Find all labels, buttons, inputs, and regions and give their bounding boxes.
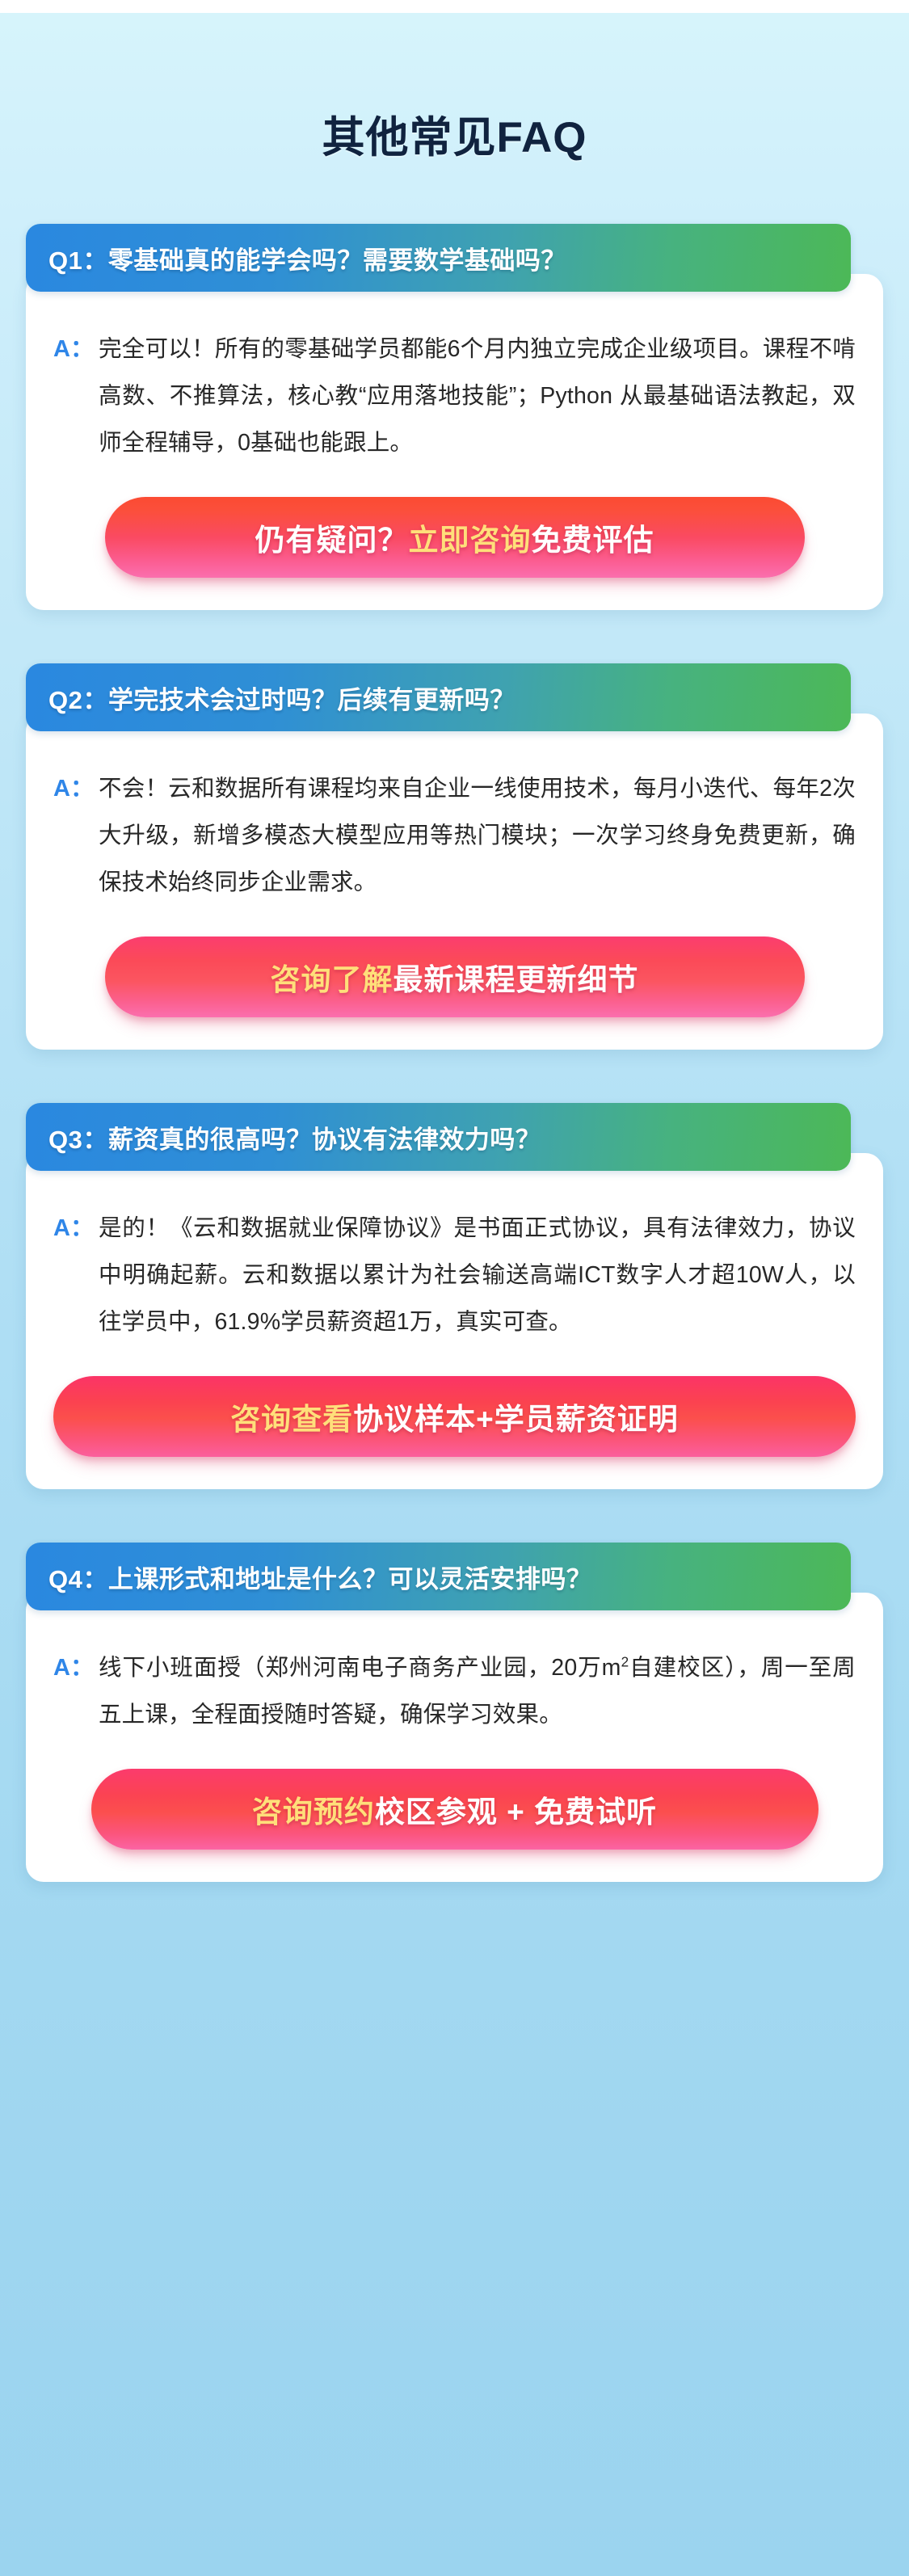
- cta-highlight-q4: 咨询预约: [252, 1787, 375, 1831]
- cta-button-q2[interactable]: 咨询了解最新课程更新细节: [105, 937, 805, 1017]
- cta-wrap-q1: 仍有疑问？立即咨询免费评估: [53, 497, 856, 578]
- answer-text-q4: 线下小班面授（郑州河南电子商务产业园，20万m2自建校区），周一至周五上课，全程…: [99, 1644, 856, 1738]
- cta-trail-q2: 最新课程更新细节: [393, 955, 639, 999]
- answer-label-q1: A：: [53, 326, 99, 373]
- question-header-q1[interactable]: Q1：零基础真的能学会吗？需要数学基础吗？: [26, 224, 851, 292]
- answer-text-q2: 不会！云和数据所有课程均来自企业一线使用技术，每月小迭代、每年2次大升级，新增多…: [99, 765, 856, 906]
- answer-card-q1: A： 完全可以！所有的零基础学员都能6个月内独立完成企业级项目。课程不啃高数、不…: [26, 274, 883, 610]
- answer-row-q1: A： 完全可以！所有的零基础学员都能6个月内独立完成企业级项目。课程不啃高数、不…: [53, 326, 856, 466]
- cta-wrap-q2: 咨询了解最新课程更新细节: [53, 937, 856, 1017]
- question-header-q4[interactable]: Q4：上课形式和地址是什么？可以灵活安排吗？: [26, 1543, 851, 1610]
- cta-trail-q4: 校区参观 + 免费试听: [375, 1787, 657, 1831]
- answer-row-q3: A： 是的！《云和数据就业保障协议》是书面正式协议，具有法律效力，协议中明确起薪…: [53, 1205, 856, 1345]
- faq-block-q4: Q4：上课形式和地址是什么？可以灵活安排吗？ A： 线下小班面授（郑州河南电子商…: [26, 1543, 883, 1882]
- faq-block-q2: Q2：学完技术会过时吗？后续有更新吗？ A： 不会！云和数据所有课程均来自企业一…: [26, 663, 883, 1050]
- faq-page: 其他常见FAQ Q1：零基础真的能学会吗？需要数学基础吗？ A： 完全可以！所有…: [0, 0, 909, 2576]
- cta-highlight-q1: 立即咨询: [409, 516, 532, 559]
- question-text-q4: Q4：上课形式和地址是什么？可以灵活安排吗？: [48, 1559, 591, 1595]
- faq-block-q1: Q1：零基础真的能学会吗？需要数学基础吗？ A： 完全可以！所有的零基础学员都能…: [26, 224, 883, 610]
- question-header-q3[interactable]: Q3：薪资真的很高吗？协议有法律效力吗？: [26, 1103, 851, 1171]
- faq-block-q3: Q3：薪资真的很高吗？协议有法律效力吗？ A： 是的！《云和数据就业保障协议》是…: [26, 1103, 883, 1489]
- answer-text-q3: 是的！《云和数据就业保障协议》是书面正式协议，具有法律效力，协议中明确起薪。云和…: [99, 1205, 856, 1345]
- answer-row-q2: A： 不会！云和数据所有课程均来自企业一线使用技术，每月小迭代、每年2次大升级，…: [53, 765, 856, 906]
- question-text-q1: Q1：零基础真的能学会吗？需要数学基础吗？: [48, 240, 566, 276]
- answer-text-q1: 完全可以！所有的零基础学员都能6个月内独立完成企业级项目。课程不啃高数、不推算法…: [99, 326, 856, 466]
- question-header-q2[interactable]: Q2：学完技术会过时吗？后续有更新吗？: [26, 663, 851, 731]
- cta-highlight-q2: 咨询了解: [271, 955, 393, 999]
- cta-wrap-q4: 咨询预约校区参观 + 免费试听: [53, 1769, 856, 1850]
- answer-card-q3: A： 是的！《云和数据就业保障协议》是书面正式协议，具有法律效力，协议中明确起薪…: [26, 1153, 883, 1489]
- question-text-q2: Q2：学完技术会过时吗？后续有更新吗？: [48, 680, 516, 716]
- answer-row-q4: A： 线下小班面授（郑州河南电子商务产业园，20万m2自建校区），周一至周五上课…: [53, 1644, 856, 1738]
- cta-lead-q1: 仍有疑问？: [255, 516, 409, 559]
- cta-wrap-q3: 咨询查看协议样本+学员薪资证明: [53, 1376, 856, 1457]
- cta-button-q1[interactable]: 仍有疑问？立即咨询免费评估: [105, 497, 805, 578]
- page-content: 其他常见FAQ Q1：零基础真的能学会吗？需要数学基础吗？ A： 完全可以！所有…: [0, 0, 909, 1882]
- answer-label-q3: A：: [53, 1205, 99, 1252]
- answer-label-q2: A：: [53, 765, 99, 812]
- cta-trail-q1: 免费评估: [532, 516, 654, 559]
- cta-button-q3[interactable]: 咨询查看协议样本+学员薪资证明: [53, 1376, 856, 1457]
- answer-label-q4: A：: [53, 1644, 99, 1691]
- cta-highlight-q3: 咨询查看: [230, 1395, 353, 1438]
- cta-button-q4[interactable]: 咨询预约校区参观 + 免费试听: [91, 1769, 819, 1850]
- question-text-q3: Q3：薪资真的很高吗？协议有法律效力吗？: [48, 1119, 541, 1155]
- page-title: 其他常见FAQ: [0, 0, 909, 162]
- answer-card-q4: A： 线下小班面授（郑州河南电子商务产业园，20万m2自建校区），周一至周五上课…: [26, 1593, 883, 1882]
- cta-trail-q3: 协议样本+学员薪资证明: [353, 1395, 679, 1438]
- answer-card-q2: A： 不会！云和数据所有课程均来自企业一线使用技术，每月小迭代、每年2次大升级，…: [26, 713, 883, 1050]
